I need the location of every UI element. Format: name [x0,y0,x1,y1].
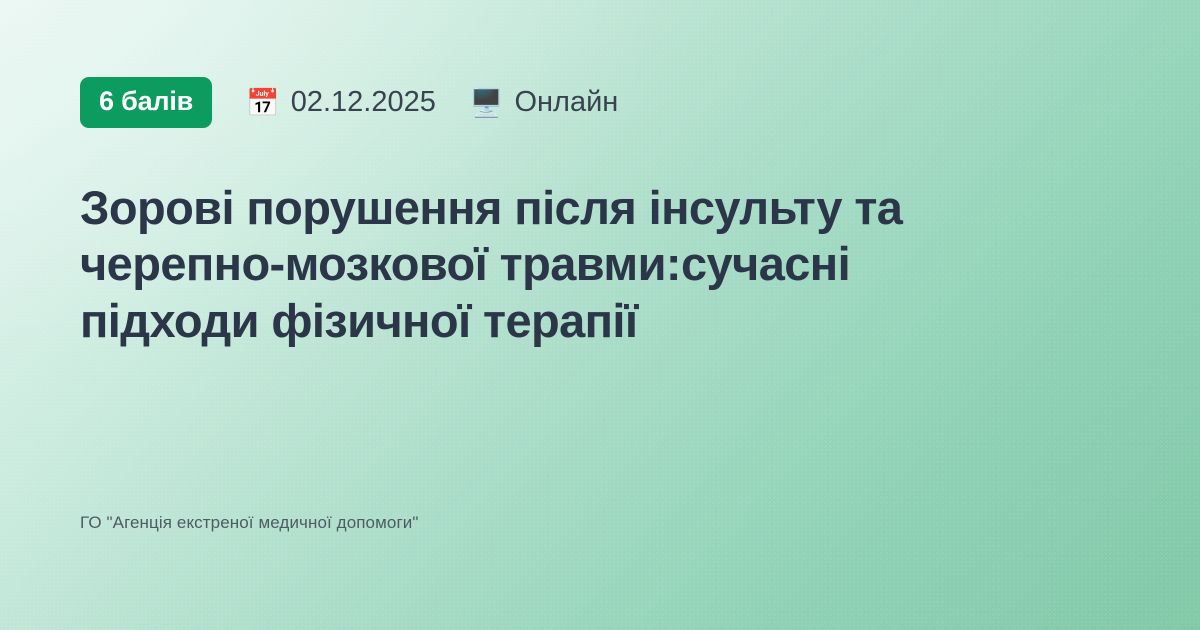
event-date-value: 02.12.2025 [291,88,436,117]
credit-points-badge: 6 балів [80,77,212,128]
event-title-line: черепно-мозкової травми:сучасні [80,236,1090,292]
event-date: 📅 02.12.2025 [246,88,436,117]
meta-row: 6 балів 📅 02.12.2025 🖥️ Онлайн [80,78,1120,126]
computer-icon: 🖥️ [470,90,504,117]
event-format: 🖥️ Онлайн [470,88,618,117]
organizer-name: ГО "Агенція екстреної медичної допомоги" [80,512,1120,596]
calendar-icon: 📅 [246,90,280,117]
title-block: Зорові порушення після інсульту та череп… [80,180,1120,512]
event-title-line: підходи фізичної терапії [80,293,1090,349]
event-title: Зорові порушення після інсульту та череп… [80,180,1090,349]
event-card: 6 балів 📅 02.12.2025 🖥️ Онлайн Зорові по… [0,0,1200,630]
event-title-line: Зорові порушення після інсульту та [80,180,1090,236]
event-format-value: Онлайн [514,88,618,117]
card-content: 6 балів 📅 02.12.2025 🖥️ Онлайн Зорові по… [0,0,1200,630]
